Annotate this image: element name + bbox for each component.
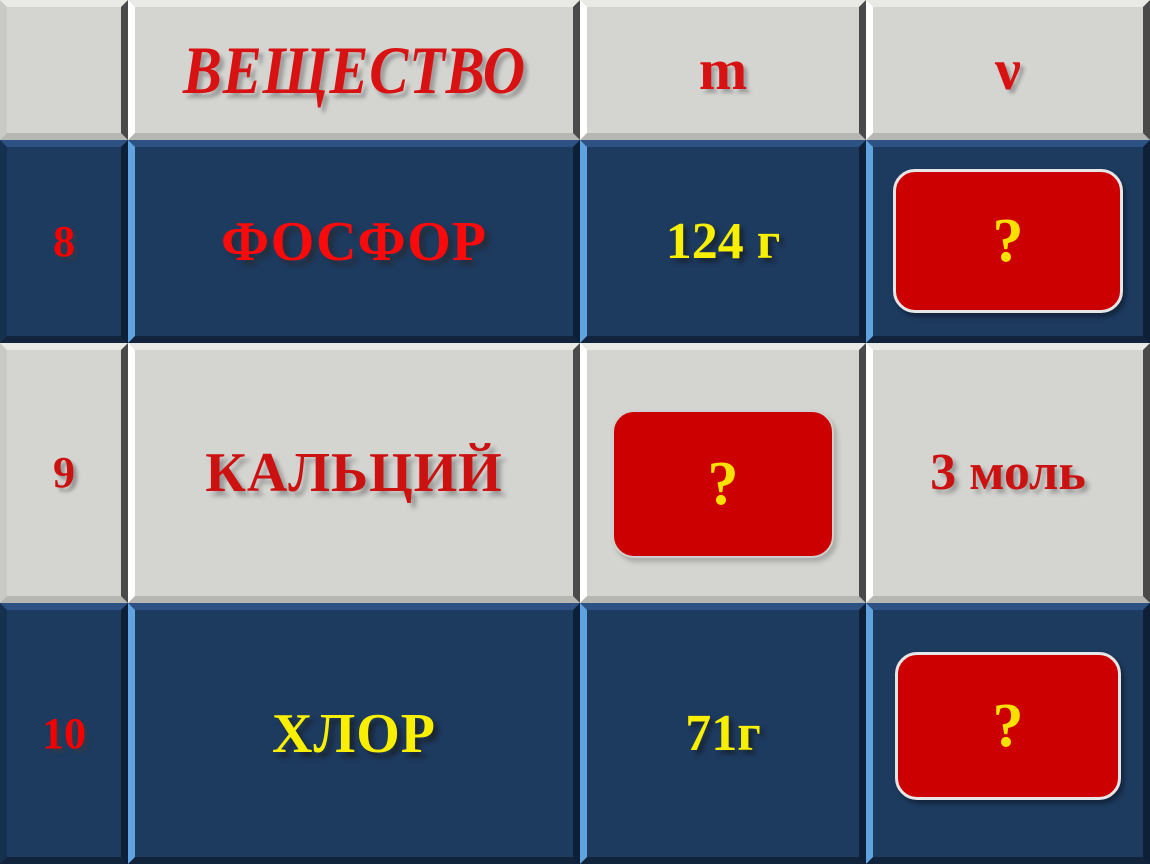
mass-answer-card[interactable]: ? — [612, 410, 834, 558]
row-substance-cell: КАЛЬЦИЙ — [128, 343, 580, 603]
row-amount-cell: ? — [866, 603, 1150, 864]
row-amount-value: 3 моль — [930, 447, 1086, 499]
row-index-cell: 10 — [0, 603, 128, 864]
row-substance-cell: ФОСФОР — [128, 140, 580, 343]
header-substance-label: ВЕЩЕСТВО — [183, 36, 526, 104]
row-index-label: 9 — [53, 451, 75, 495]
table-header-row: ВЕЩЕСТВО m ν — [0, 0, 1150, 140]
row-substance-label: ХЛОР — [272, 706, 436, 762]
row-index-label: 10 — [42, 712, 86, 756]
row-mass-cell: 71г — [580, 603, 866, 864]
header-mass-cell: m — [580, 0, 866, 140]
row-index-cell: 9 — [0, 343, 128, 603]
row-mass-cell: 124 г — [580, 140, 866, 343]
header-amount-label: ν — [995, 41, 1021, 99]
row-mass-cell: ? — [580, 343, 866, 603]
row-amount-cell: ? — [866, 140, 1150, 343]
row-substance-cell: ХЛОР — [128, 603, 580, 864]
amount-answer-card[interactable]: ? — [893, 169, 1123, 313]
header-mass-label: m — [699, 41, 747, 99]
table-row: 8 ФОСФОР 124 г ? — [0, 140, 1150, 343]
row-substance-label: КАЛЬЦИЙ — [205, 445, 502, 501]
header-index-cell — [0, 0, 128, 140]
question-mark-label: ? — [993, 695, 1024, 757]
table-row: 10 ХЛОР 71г ? — [0, 603, 1150, 864]
header-amount-cell: ν — [866, 0, 1150, 140]
table-row: 9 КАЛЬЦИЙ ? 3 моль — [0, 343, 1150, 603]
quiz-table: ВЕЩЕСТВО m ν 8 ФОСФОР 124 г ? 9 — [0, 0, 1150, 864]
row-index-label: 8 — [53, 220, 75, 264]
row-amount-cell: 3 моль — [866, 343, 1150, 603]
row-substance-label: ФОСФОР — [221, 214, 487, 270]
question-mark-label: ? — [993, 210, 1024, 272]
row-mass-value: 124 г — [666, 216, 781, 268]
header-substance-cell: ВЕЩЕСТВО — [128, 0, 580, 140]
row-mass-value: 71г — [685, 708, 761, 760]
amount-answer-card[interactable]: ? — [895, 652, 1121, 800]
row-index-cell: 8 — [0, 140, 128, 343]
question-mark-label: ? — [708, 453, 739, 515]
